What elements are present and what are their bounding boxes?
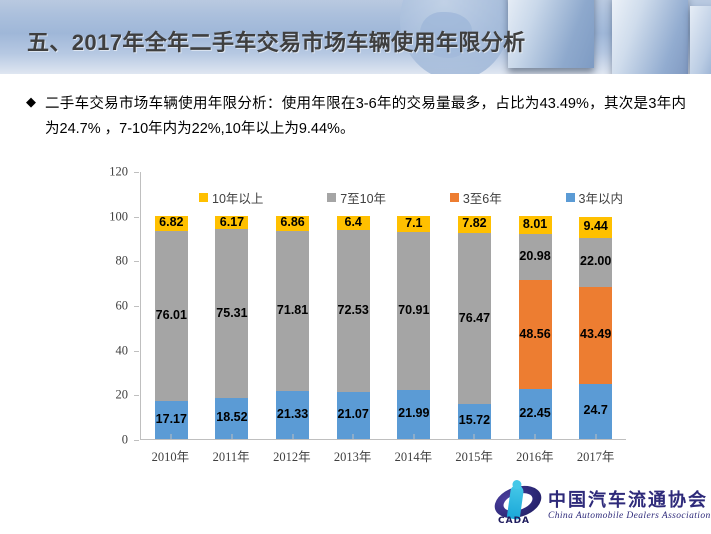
y-axis-tick-label: 80	[94, 254, 128, 269]
cada-acronym-text: CADA	[498, 516, 530, 526]
bar-segment-value-label: 18.52	[216, 410, 247, 424]
bar-segment-3年以内[interactable]: 21.33	[276, 391, 309, 439]
bar-segment-value-label: 21.33	[277, 407, 308, 421]
y-axis: 020406080100120	[96, 172, 134, 440]
y-axis-tick-mark	[134, 440, 139, 441]
bullet-paragraph-text: 二手车交易市场车辆使用年限分析：使用年限在3-6年的交易量最多，占比为43.49…	[45, 92, 686, 142]
bar-segment-value-label: 17.17	[156, 412, 187, 426]
x-axis-tick-mark	[292, 434, 293, 440]
x-axis-label: 2015年	[444, 446, 505, 465]
logo-name-en: China Automobile Dealers Association	[548, 511, 711, 521]
bar-segment-value-label: 8.01	[523, 217, 547, 231]
stacked-bar[interactable]: 6.8276.0117.17	[155, 216, 188, 439]
bar-column[interactable]: 6.1775.3118.52	[202, 172, 263, 439]
bar-segment-value-label: 48.56	[519, 327, 550, 341]
x-axis-label: 2017年	[565, 446, 626, 465]
bar-segment-value-label: 6.17	[220, 215, 244, 229]
bar-column[interactable]: 8.0120.9848.5622.45	[505, 172, 566, 439]
bar-segment-value-label: 20.98	[519, 249, 550, 263]
bar-segment-value-label: 71.81	[277, 303, 308, 317]
bar-segment-10年以上[interactable]: 7.82	[458, 216, 491, 233]
bar-segment-10年以上[interactable]: 6.17	[215, 216, 248, 230]
bar-segment-value-label: 76.01	[156, 308, 187, 322]
bar-segment-value-label: 75.31	[216, 306, 247, 320]
x-axis-tick-mark	[171, 434, 172, 440]
stacked-bar[interactable]: 6.1775.3118.52	[215, 216, 248, 439]
bar-segment-3至6年[interactable]: 43.49	[579, 287, 612, 384]
bar-segment-3年以内[interactable]: 21.99	[397, 390, 430, 439]
bar-segment-7至10年[interactable]: 20.98	[519, 234, 552, 281]
y-axis-tick-label: 20	[94, 388, 128, 403]
y-axis-tick-mark	[134, 351, 139, 352]
stacked-bar[interactable]: 6.472.5321.07	[337, 216, 370, 439]
bar-segment-value-label: 72.53	[338, 303, 369, 317]
bar-segment-value-label: 6.4	[344, 215, 361, 229]
logo-name-cn: 中国汽车流通协会	[548, 491, 711, 510]
bar-segment-value-label: 7.1	[405, 216, 422, 230]
x-axis-label: 2016年	[505, 446, 566, 465]
logo-text-block: 中国汽车流通协会 China Automobile Dealers Associ…	[548, 491, 711, 522]
bar-column[interactable]: 7.8276.4715.72	[444, 172, 505, 439]
bullet-row: ◆ 二手车交易市场车辆使用年限分析：使用年限在3-6年的交易量最多，占比为43.…	[26, 92, 686, 142]
y-axis-tick-mark	[134, 217, 139, 218]
bar-segment-10年以上[interactable]: 6.82	[155, 216, 188, 231]
x-axis-tick-mark	[231, 434, 232, 440]
y-axis-tick-label: 100	[94, 209, 128, 224]
bar-segment-value-label: 7.82	[462, 216, 486, 230]
bar-segment-7至10年[interactable]: 71.81	[276, 231, 309, 391]
bar-segment-10年以上[interactable]: 6.4	[337, 216, 370, 230]
diamond-bullet-icon: ◆	[26, 92, 36, 112]
bar-segment-10年以上[interactable]: 6.86	[276, 216, 309, 231]
y-axis-tick-label: 40	[94, 343, 128, 358]
bar-segment-value-label: 6.86	[280, 215, 304, 229]
bar-segment-3年以内[interactable]: 21.07	[337, 392, 370, 439]
cube-graphic-2	[612, 0, 688, 74]
bar-segment-3年以内[interactable]: 18.52	[215, 398, 248, 439]
bar-group-container: 6.8276.0117.176.1775.3118.526.8671.8121.…	[141, 172, 626, 439]
x-axis-tick-mark	[353, 434, 354, 440]
y-axis-tick-label: 60	[94, 299, 128, 314]
cada-logo: CADA 中国汽车流通协会 China Automobile Dealers A…	[492, 484, 702, 528]
x-axis-label: 2013年	[322, 446, 383, 465]
x-axis-tick-mark	[474, 434, 475, 440]
bar-segment-7至10年[interactable]: 75.31	[215, 229, 248, 397]
bar-segment-7至10年[interactable]: 22.00	[579, 238, 612, 287]
x-axis-label: 2012年	[262, 446, 323, 465]
bar-segment-3至6年[interactable]: 48.56	[519, 280, 552, 388]
y-axis-tick-mark	[134, 306, 139, 307]
stacked-bar[interactable]: 8.0120.9848.5622.45	[519, 216, 552, 439]
bar-segment-value-label: 6.82	[159, 215, 183, 229]
bar-segment-value-label: 43.49	[580, 327, 611, 341]
bar-column[interactable]: 9.4422.0043.4924.7	[565, 172, 626, 439]
x-axis-label: 2010年	[140, 446, 201, 465]
bar-segment-value-label: 22.00	[580, 254, 611, 268]
bar-segment-value-label: 21.07	[338, 407, 369, 421]
bullet-paragraph-block: ◆ 二手车交易市场车辆使用年限分析：使用年限在3-6年的交易量最多，占比为43.…	[26, 92, 686, 142]
x-axis-labels: 2010年2011年2012年2013年2014年2015年2016年2017年	[140, 446, 626, 465]
cube-graphic-3	[690, 6, 711, 74]
y-axis-tick-label: 0	[94, 433, 128, 448]
bar-segment-10年以上[interactable]: 8.01	[519, 216, 552, 234]
x-axis-tick-mark	[413, 434, 414, 440]
bar-segment-value-label: 9.44	[584, 219, 608, 233]
bar-segment-7至10年[interactable]: 76.01	[155, 231, 188, 401]
slide-header-banner: 五、2017年全年二手车交易市场车辆使用年限分析	[0, 0, 711, 74]
y-axis-tick-label: 120	[94, 165, 128, 180]
stacked-bar[interactable]: 6.8671.8121.33	[276, 216, 309, 439]
bar-segment-value-label: 76.47	[459, 311, 490, 325]
plot-area: 10年以上7至10年3至6年3年以内 6.8276.0117.176.1775.…	[140, 172, 626, 440]
stacked-bar[interactable]: 7.8276.4715.72	[458, 216, 491, 439]
bar-segment-7至10年[interactable]: 72.53	[337, 230, 370, 392]
bar-segment-value-label: 24.7	[584, 403, 608, 417]
bar-column[interactable]: 6.472.5321.07	[323, 172, 384, 439]
bar-segment-value-label: 70.91	[398, 303, 429, 317]
stacked-bar[interactable]: 9.4422.0043.4924.7	[579, 217, 612, 439]
x-axis-label: 2011年	[201, 446, 262, 465]
x-axis-label: 2014年	[383, 446, 444, 465]
bar-column[interactable]: 6.8671.8121.33	[262, 172, 323, 439]
bar-segment-3年以内[interactable]: 22.45	[519, 389, 552, 439]
bar-segment-value-label: 21.99	[398, 406, 429, 420]
bar-segment-value-label: 15.72	[459, 413, 490, 427]
bar-column[interactable]: 7.170.9121.99	[384, 172, 445, 439]
stacked-bar[interactable]: 7.170.9121.99	[397, 216, 430, 439]
y-axis-tick-mark	[134, 261, 139, 262]
page-title: 五、2017年全年二手车交易市场车辆使用年限分析	[27, 25, 526, 57]
stacked-bar-chart: 020406080100120 10年以上7至10年3至6年3年以内 6.827…	[96, 172, 626, 464]
bar-segment-7至10年[interactable]: 70.91	[397, 232, 430, 390]
y-axis-tick-mark	[134, 395, 139, 396]
x-axis-tick-mark	[595, 434, 596, 440]
cada-emblem-icon: CADA	[492, 485, 544, 527]
bar-segment-10年以上[interactable]: 7.1	[397, 216, 430, 232]
x-axis-tick-mark	[535, 434, 536, 440]
y-axis-tick-mark	[134, 172, 139, 173]
bar-segment-10年以上[interactable]: 9.44	[579, 217, 612, 238]
bar-segment-3年以内[interactable]: 24.7	[579, 384, 612, 439]
bar-column[interactable]: 6.8276.0117.17	[141, 172, 202, 439]
bar-segment-value-label: 22.45	[519, 406, 550, 420]
bar-segment-7至10年[interactable]: 76.47	[458, 233, 491, 404]
